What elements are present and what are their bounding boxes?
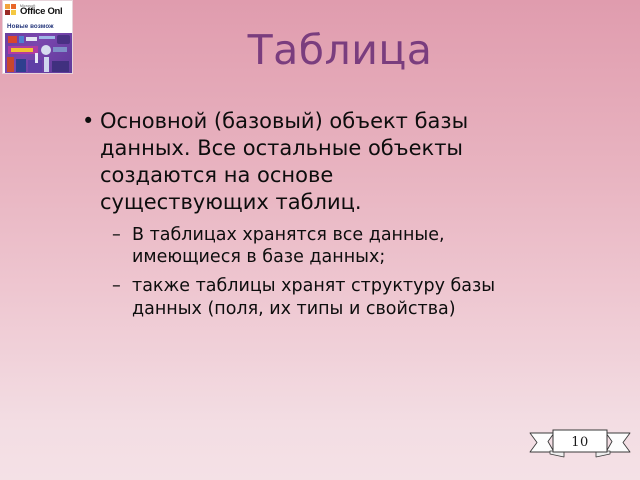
logo-illustration — [5, 33, 72, 74]
slide-canvas: Microsoft Office Onl Новые возмож Таблиц… — [0, 0, 640, 480]
main-bullet-text: Основной (базовый) объект базы данных. В… — [100, 109, 468, 214]
microsoft-office-logo-icon — [5, 4, 18, 17]
dash-marker-icon: – — [112, 224, 121, 247]
logo-wordmark: Microsoft Office Onl — [20, 4, 62, 17]
logo-brand-main: Office Onl — [20, 7, 62, 17]
main-bullet-item: • Основной (базовый) объект базы данных.… — [78, 108, 508, 216]
sub-bullet-list: – В таблицах хранятся все данные, имеющи… — [78, 224, 508, 321]
logo-header: Microsoft Office Onl — [3, 1, 72, 20]
page-number-text: 10 — [528, 435, 632, 450]
bullet-dot-icon: • — [82, 108, 94, 135]
slide-title: Таблица — [90, 28, 590, 73]
logo-tagline: Новые возмож — [7, 23, 54, 30]
sub-bullet-text: также таблицы хранят структуру базы данн… — [132, 276, 495, 319]
page-number-ribbon: 10 — [528, 427, 632, 464]
sub-bullet-item: – В таблицах хранятся все данные, имеющи… — [112, 224, 508, 270]
dash-marker-icon: – — [112, 275, 121, 298]
sub-bullet-item: – также таблицы хранят структуру базы да… — [112, 275, 508, 321]
logo-brand-small: Microsoft — [20, 5, 62, 8]
sub-bullet-text: В таблицах хранятся все данные, имеющиес… — [132, 225, 445, 268]
office-online-logo-image: Microsoft Office Onl Новые возмож — [2, 0, 73, 74]
slide-body: • Основной (базовый) объект базы данных.… — [78, 108, 508, 327]
